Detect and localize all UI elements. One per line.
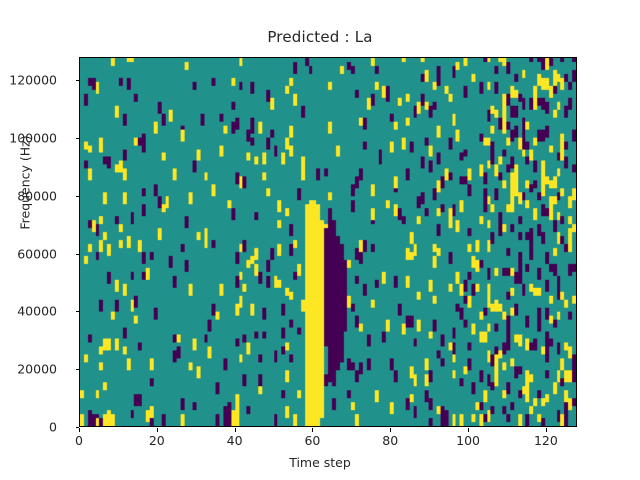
x-tick-label: 40 — [205, 433, 265, 448]
x-tick-mark — [79, 428, 80, 432]
y-tick-label: 40000 — [0, 304, 57, 319]
x-tick-mark — [390, 428, 391, 432]
x-axis-label: Time step — [0, 455, 640, 470]
x-tick-label: 80 — [360, 433, 420, 448]
y-tick-label: 120000 — [0, 73, 57, 88]
x-tick-label: 120 — [516, 433, 576, 448]
matplotlib-figure: Predicted : La Frequency (Hz) Time step … — [0, 0, 640, 480]
y-tick-label: 60000 — [0, 246, 57, 261]
chart-title: Predicted : La — [0, 28, 640, 46]
plot-area — [79, 57, 577, 427]
y-tick-label: 100000 — [0, 130, 57, 145]
heatmap-canvas — [80, 58, 576, 426]
x-tick-mark — [312, 428, 313, 432]
x-tick-label: 60 — [282, 433, 342, 448]
x-tick-label: 0 — [49, 433, 109, 448]
y-tick-label: 80000 — [0, 188, 57, 203]
x-tick-mark — [546, 428, 547, 432]
x-tick-mark — [235, 428, 236, 432]
y-tick-label: 20000 — [0, 362, 57, 377]
x-tick-mark — [468, 428, 469, 432]
x-tick-mark — [157, 428, 158, 432]
x-tick-label: 100 — [438, 433, 498, 448]
x-tick-label: 20 — [127, 433, 187, 448]
